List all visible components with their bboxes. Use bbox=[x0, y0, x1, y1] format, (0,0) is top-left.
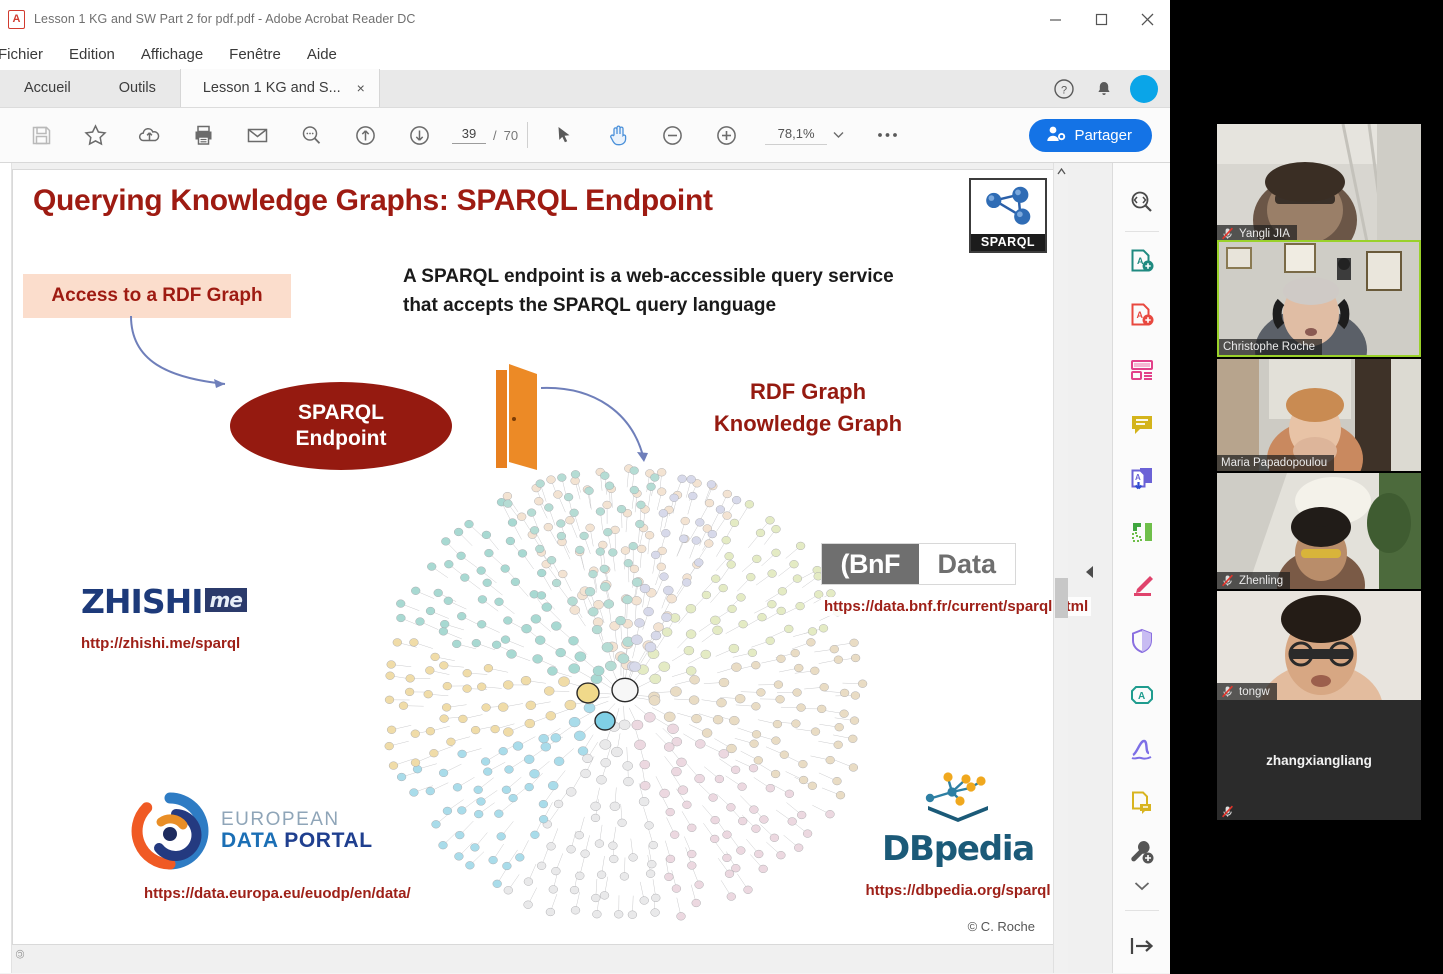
dbpedia-graph-icon bbox=[910, 772, 1006, 824]
participant-tile-1[interactable]: Christophe Roche bbox=[1217, 240, 1421, 357]
search-pdf-icon[interactable] bbox=[1119, 175, 1165, 229]
description-line-2: that accepts the SPARQL query language bbox=[403, 291, 963, 320]
participant-tile-5[interactable]: zhangxiangliang bbox=[1217, 700, 1421, 820]
participant-tile-0[interactable]: Yangli JIA bbox=[1217, 124, 1421, 242]
sparql-graph-icon bbox=[971, 184, 1045, 234]
sparql-logo: SPARQL bbox=[969, 178, 1047, 253]
more-tools-icon[interactable] bbox=[1119, 830, 1165, 873]
tab-outils[interactable]: Outils bbox=[95, 69, 180, 107]
print-icon[interactable] bbox=[176, 115, 230, 155]
document-area: © http://ketrc.com/ Querying Knowledge G… bbox=[0, 163, 1170, 973]
participant-name-0: Yangli JIA bbox=[1239, 228, 1290, 240]
export-pdf-icon[interactable]: A bbox=[1119, 451, 1165, 505]
menu-bar: Fichier Edition Affichage Fenêtre Aide bbox=[0, 38, 1170, 70]
description-line-1: A SPARQL endpoint is a web-accessible qu… bbox=[403, 262, 963, 291]
tab-strip-actions: ? bbox=[1050, 70, 1164, 108]
screen: A Lesson 1 KG and SW Part 2 for pdf.pdf … bbox=[0, 0, 1443, 974]
save-icon[interactable] bbox=[14, 115, 68, 155]
slide-description: A SPARQL endpoint is a web-accessible qu… bbox=[403, 262, 963, 321]
page-separator: / bbox=[493, 128, 497, 143]
participant-tile-2[interactable]: Maria Papadopoulou bbox=[1217, 359, 1421, 471]
page-total: 70 bbox=[504, 128, 518, 143]
zoom-out-icon[interactable] bbox=[645, 115, 699, 155]
participant-name-bar-1: Christophe Roche bbox=[1219, 339, 1322, 355]
edp-data-text: DATA bbox=[221, 829, 284, 852]
cursor-select-icon[interactable] bbox=[537, 115, 591, 155]
rail-divider-bottom bbox=[1125, 910, 1159, 911]
zhishi-wordmark: ZHISHIme bbox=[81, 582, 291, 621]
hand-pan-icon[interactable] bbox=[591, 115, 645, 155]
combine-files-icon[interactable]: A bbox=[1119, 288, 1165, 342]
participant-name-bar-5 bbox=[1217, 803, 1241, 820]
create-pdf-icon[interactable]: A bbox=[1119, 234, 1165, 288]
share-button-label: Partager bbox=[1074, 127, 1132, 144]
rdf-graph-label: RDF Graph Knowledge Graph bbox=[643, 376, 973, 440]
share-person-icon bbox=[1045, 124, 1066, 148]
tab-document-label: Lesson 1 KG and S... bbox=[203, 80, 341, 96]
find-icon[interactable] bbox=[284, 115, 338, 155]
bnf-left-text: (BnF bbox=[822, 544, 919, 584]
slide-copyright: © C. Roche bbox=[968, 919, 1035, 934]
menu-item-affichage[interactable]: Affichage bbox=[128, 43, 216, 66]
rdf-label-line-2: Knowledge Graph bbox=[643, 408, 973, 440]
page-navigation: 39 / 70 bbox=[452, 126, 518, 144]
slide-title: Querying Knowledge Graphs: SPARQL Endpoi… bbox=[33, 184, 963, 218]
tab-accueil[interactable]: Accueil bbox=[0, 69, 95, 107]
prepare-form-icon[interactable] bbox=[1119, 776, 1165, 830]
organize-pages-icon[interactable] bbox=[1119, 343, 1165, 397]
page-left-strip bbox=[0, 163, 12, 973]
window-title: Lesson 1 KG and SW Part 2 for pdf.pdf - … bbox=[34, 12, 416, 26]
help-circle-icon[interactable]: ? bbox=[1050, 75, 1078, 103]
participant-tile-4[interactable]: tongw bbox=[1217, 591, 1421, 700]
bnf-url: https://data.bnf.fr/current/sparql.html bbox=[821, 597, 1091, 616]
tools-rail: A A A bbox=[1112, 163, 1170, 973]
rdf-label-line-1: RDF Graph bbox=[643, 376, 973, 408]
menu-item-fenetre[interactable]: Fenêtre bbox=[216, 43, 294, 66]
toolbar-divider bbox=[527, 122, 528, 148]
more-options-icon[interactable] bbox=[860, 115, 914, 155]
adobe-acrobat-window: A Lesson 1 KG and SW Part 2 for pdf.pdf … bbox=[0, 0, 1170, 974]
rail-divider bbox=[1125, 231, 1159, 232]
edp-logo-row: EUROPEAN DATA PORTAL bbox=[131, 792, 461, 870]
participant-tile-3[interactable]: Zhenling bbox=[1217, 473, 1421, 589]
svg-text:A: A bbox=[1135, 473, 1141, 482]
zhishi-wordmark-text: ZHISHI bbox=[81, 582, 203, 621]
next-page-icon[interactable] bbox=[392, 115, 446, 155]
bell-icon[interactable] bbox=[1090, 75, 1118, 103]
toolbar: 39 / 70 78,1% bbox=[0, 108, 1170, 163]
protect-icon[interactable] bbox=[1119, 613, 1165, 667]
muted-microphone-icon bbox=[1221, 805, 1234, 818]
svg-text:A: A bbox=[1138, 691, 1145, 702]
pdf-page: Querying Knowledge Graphs: SPARQL Endpoi… bbox=[12, 169, 1058, 945]
european-data-portal-logo: EUROPEAN DATA PORTAL https://data.europa… bbox=[131, 792, 461, 903]
close-icon[interactable]: × bbox=[357, 81, 365, 95]
zoom-in-icon[interactable] bbox=[699, 115, 753, 155]
window-controls bbox=[1032, 0, 1170, 38]
bnf-wordmark: (BnF Data bbox=[821, 543, 1016, 585]
zoom-level-control[interactable]: 78,1% bbox=[765, 126, 844, 145]
scrollbar-thumb[interactable] bbox=[1055, 578, 1068, 618]
avatar[interactable] bbox=[1130, 75, 1158, 103]
chevron-down-icon[interactable] bbox=[833, 131, 844, 139]
sparql-endpoint-ellipse: SPARQL Endpoint bbox=[230, 382, 452, 470]
vertical-scrollbar[interactable] bbox=[1053, 163, 1068, 973]
dbpedia-url: https://dbpedia.org/sparql bbox=[862, 881, 1053, 900]
ellipse-line-1: SPARQL bbox=[298, 400, 384, 426]
svg-text:?: ? bbox=[1061, 85, 1067, 97]
edp-wordmark: EUROPEAN DATA PORTAL bbox=[221, 810, 373, 852]
muted-microphone-icon bbox=[1221, 227, 1234, 240]
chevron-down-icon[interactable] bbox=[1119, 873, 1165, 900]
star-icon[interactable] bbox=[68, 115, 122, 155]
edit-pdf-icon[interactable] bbox=[1119, 559, 1165, 613]
muted-microphone-icon bbox=[1221, 574, 1234, 587]
sparql-logo-label: SPARQL bbox=[971, 234, 1045, 251]
compress-pdf-icon[interactable] bbox=[1119, 505, 1165, 559]
bnf-right-text: Data bbox=[919, 544, 1016, 584]
dbpedia-wordmark: DBpedia bbox=[853, 829, 1063, 869]
comment-icon[interactable] bbox=[1119, 397, 1165, 451]
video-participants-panel: Yangli JIA Christophe Roche bbox=[1170, 0, 1443, 974]
participant-name-1: Christophe Roche bbox=[1223, 341, 1315, 353]
edp-portal-text: PORTAL bbox=[284, 829, 372, 852]
close-icon[interactable] bbox=[1124, 0, 1170, 38]
svg-text:A: A bbox=[1136, 310, 1143, 320]
participant-name-2: Maria Papadopoulou bbox=[1221, 457, 1327, 469]
participant-name-bar-2: Maria Papadopoulou bbox=[1217, 455, 1334, 471]
share-button[interactable]: Partager bbox=[1029, 119, 1152, 152]
scroll-up-arrow[interactable] bbox=[1054, 163, 1068, 179]
tab-document[interactable]: Lesson 1 KG and S... × bbox=[180, 69, 380, 107]
maximize-icon[interactable] bbox=[1078, 0, 1124, 38]
upload-to-cloud-icon[interactable] bbox=[122, 115, 176, 155]
edp-url: https://data.europa.eu/euodp/en/data/ bbox=[141, 884, 414, 903]
fill-and-sign-icon[interactable] bbox=[1119, 722, 1165, 776]
menu-item-aide[interactable]: Aide bbox=[294, 43, 350, 66]
participant-name-4: tongw bbox=[1239, 686, 1270, 698]
participant-name-bar-4: tongw bbox=[1217, 683, 1277, 700]
ellipse-line-2: Endpoint bbox=[296, 426, 387, 452]
collapse-panel-icon[interactable] bbox=[1119, 919, 1165, 973]
minimize-icon[interactable] bbox=[1032, 0, 1078, 38]
bnf-data-logo: (BnF Data https://data.bnf.fr/current/sp… bbox=[821, 543, 1091, 616]
page-viewport[interactable]: © http://ketrc.com/ Querying Knowledge G… bbox=[0, 163, 1112, 973]
pdf-file-icon: A bbox=[8, 10, 25, 29]
edp-circle-icon bbox=[131, 792, 209, 870]
tab-strip: Accueil Outils Lesson 1 KG and S... × ? bbox=[0, 70, 1170, 108]
window-title-bar: A Lesson 1 KG and SW Part 2 for pdf.pdf … bbox=[0, 0, 1170, 38]
stamp-pdf-icon[interactable]: A bbox=[1119, 668, 1165, 722]
email-icon[interactable] bbox=[230, 115, 284, 155]
menu-item-fichier[interactable]: Fichier bbox=[0, 43, 56, 66]
access-to-rdf-graph-box: Access to a RDF Graph bbox=[23, 274, 291, 318]
dbpedia-logo: DBpedia https://dbpedia.org/sparql bbox=[853, 772, 1063, 900]
participant-name-5: zhangxiangliang bbox=[1217, 700, 1421, 820]
access-box-label: Access to a RDF Graph bbox=[51, 285, 262, 307]
participant-name-3: Zhenling bbox=[1239, 575, 1283, 587]
muted-microphone-icon bbox=[1221, 685, 1234, 698]
menu-item-edition[interactable]: Edition bbox=[56, 43, 128, 66]
edp-line-1: EUROPEAN bbox=[221, 810, 373, 830]
participant-name-bar-3: Zhenling bbox=[1217, 572, 1290, 589]
zoom-level-value[interactable]: 78,1% bbox=[765, 126, 827, 145]
zhishi-url: http://zhishi.me/sparql bbox=[81, 635, 291, 652]
collapse-left-arrow[interactable] bbox=[1082, 561, 1098, 583]
edp-line-2: DATA PORTAL bbox=[221, 830, 373, 852]
zhishi-me-logo: ZHISHIme http://zhishi.me/sparql bbox=[81, 582, 291, 652]
previous-page-icon[interactable] bbox=[338, 115, 392, 155]
arrow-access-to-endpoint bbox=[113, 316, 253, 406]
page-number-input[interactable]: 39 bbox=[452, 126, 486, 144]
zhishi-me-badge: me bbox=[205, 588, 247, 612]
